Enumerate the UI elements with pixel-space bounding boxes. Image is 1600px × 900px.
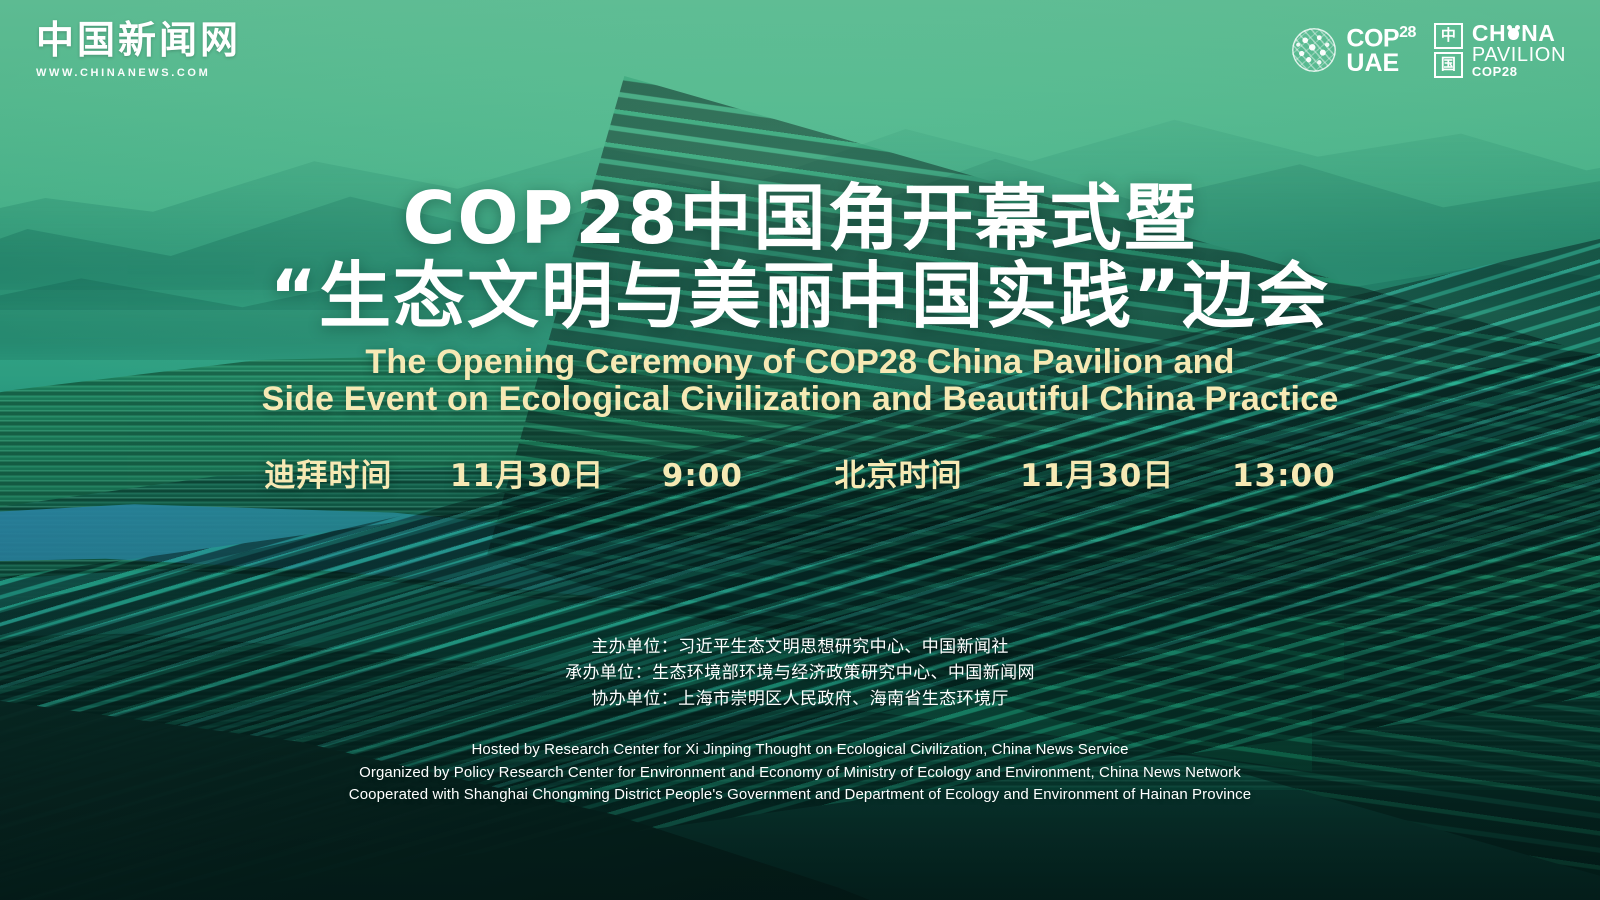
organizer-en-organizer: Organized by Policy Research Center for … [0, 762, 1600, 785]
poster-content: COP28中国角开幕式暨 “生态文明与美丽中国实践”边会 The Opening… [0, 0, 1600, 900]
organizer-en-host: Hosted by Research Center for Xi Jinping… [0, 739, 1600, 762]
organizer-zh-cooperator: 协办单位：上海市崇明区人民政府、海南省生态环境厅 [0, 686, 1600, 712]
dubai-time: 9:00 [662, 458, 743, 494]
event-poster: 中国新闻网 WWW.CHINANEWS.COM COP28 UAE 中 国 CH… [0, 0, 1600, 900]
beijing-date: 11月30日 [1020, 458, 1174, 494]
dubai-date: 11月30日 [450, 458, 604, 494]
organizers-en-block: Hosted by Research Center for Xi Jinping… [0, 739, 1600, 807]
page-title-zh-line2: “生态文明与美丽中国实践”边会 [0, 254, 1600, 339]
organizer-zh-organizer: 承办单位：生态环境部环境与经济政策研究中心、中国新闻网 [0, 660, 1600, 686]
dubai-time-label: 迪拜时间 [264, 458, 392, 494]
beijing-time-label: 北京时间 [835, 458, 963, 494]
organizer-zh-host: 主办单位：习近平生态文明思想研究中心、中国新闻社 [0, 634, 1600, 660]
organizers-zh-block: 主办单位：习近平生态文明思想研究中心、中国新闻社 承办单位：生态环境部环境与经济… [0, 634, 1600, 712]
organizer-en-cooperator: Cooperated with Shanghai Chongming Distr… [0, 784, 1600, 807]
schedule-line: 迪拜时间 11月30日 9:00 北京时间 11月30日 13:00 [0, 450, 1600, 495]
page-subtitle-en-line1: The Opening Ceremony of COP28 China Pavi… [0, 343, 1600, 381]
page-subtitle-en-line2: Side Event on Ecological Civilization an… [0, 380, 1600, 418]
page-title-zh-line1: COP28中国角开幕式暨 [0, 176, 1600, 261]
beijing-time: 13:00 [1232, 458, 1336, 494]
